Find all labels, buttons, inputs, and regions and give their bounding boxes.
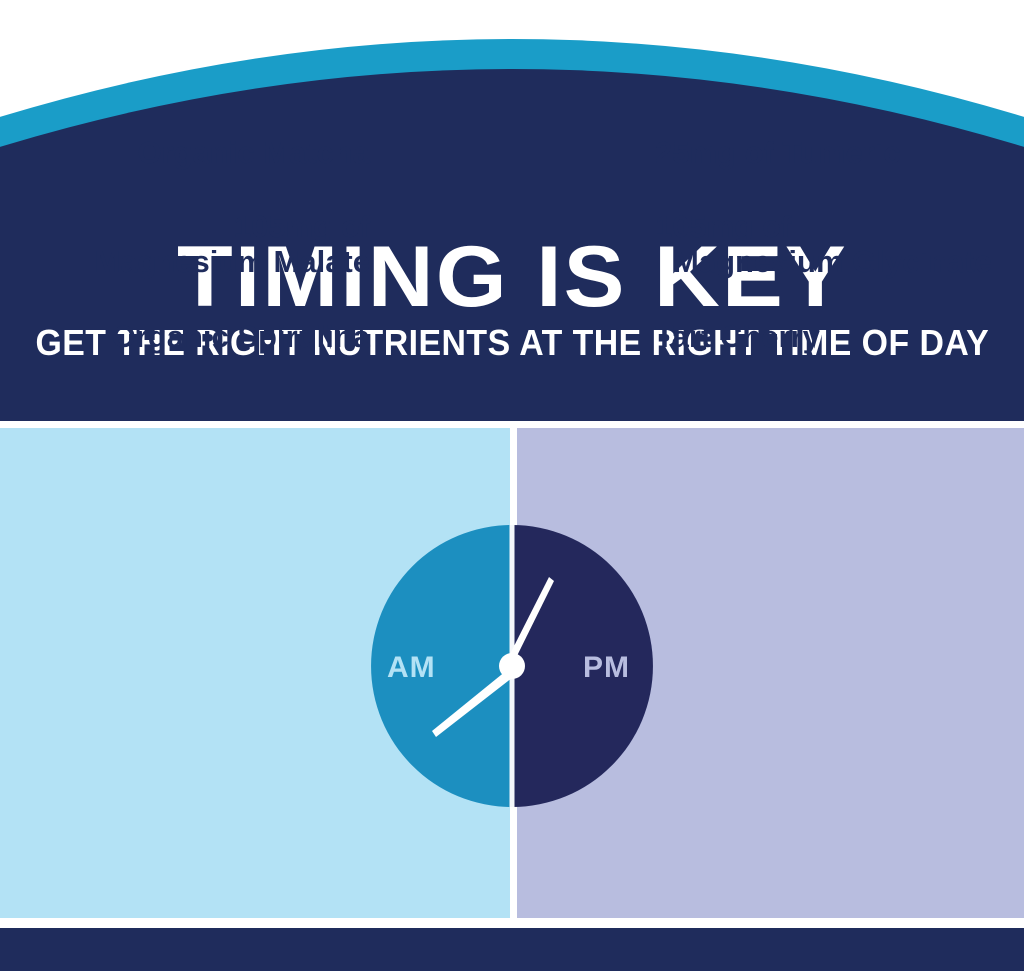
nutrient-label: 105mg of <box>234 209 370 244</box>
nutrient-label: 25mg of Tumeric <box>655 135 901 170</box>
clock-label-am: AM <box>387 651 436 685</box>
am-nutrient-list: Organic Matcha 105mg of Magnesium Malate… <box>40 0 370 490</box>
nutrient-label: Organic Spirulina <box>112 319 370 354</box>
nutrient-label: Tart Cherry <box>655 319 820 354</box>
list-item: Organic Spirulina <box>112 320 370 355</box>
nutrient-label-line2: Magnesium Glycinate <box>655 245 992 280</box>
clock-center-hub <box>499 653 525 679</box>
list-item: 25mg of Tumeric <box>655 136 901 171</box>
nutrient-label: 105mg of <box>655 209 791 244</box>
infographic-root: TIMING IS KEY GET THE RIGHT NUTRIENTS AT… <box>0 0 1024 971</box>
list-item: 105mg of Magnesium Glycinate <box>655 210 992 279</box>
nutrient-label-line2: Magnesium Malate <box>94 245 370 280</box>
nutrient-label: Organic Matcha <box>137 135 370 170</box>
clock-label-pm: PM <box>583 651 630 685</box>
list-item: Organic Matcha <box>137 136 370 171</box>
clock-graphic: AM PM <box>371 525 653 807</box>
pm-nutrient-list: 25mg of Tumeric 105mg of Magnesium Glyci… <box>655 0 1015 490</box>
list-item: Tart Cherry <box>655 320 820 355</box>
footer-bar <box>0 928 1024 971</box>
list-item: 105mg of Magnesium Malate <box>94 210 370 279</box>
